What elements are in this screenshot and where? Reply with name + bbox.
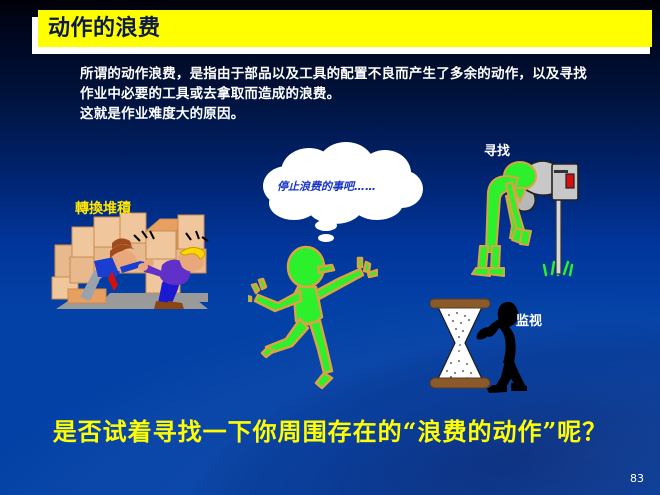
stacking-boxes-svg [50,205,210,310]
label-stacking: 轉換堆積 [75,198,131,218]
mailbox-search-svg [470,152,585,277]
illustration-stacking-boxes [50,205,210,310]
body-line-1: 所谓的动作浪费，是指由于部品以及工具的配置不良而产生了多余的动作，以及寻找 [80,64,640,84]
illustration-dancing-figure [248,245,378,390]
slide-canvas: 动作的浪费 所谓的动作浪费，是指由于部品以及工具的配置不良而产生了多余的动作，以… [0,0,660,495]
page-number: 83 [630,472,644,485]
page-title: 动作的浪费 [48,12,608,45]
thought-cloud: 停止浪费的事吧…… [255,142,430,247]
body-paragraph: 所谓的动作浪费，是指由于部品以及工具的配置不良而产生了多余的动作，以及寻找 作业… [80,64,640,124]
closing-question: 是否试着寻找一下你周围存在的“浪费的动作”呢？ [0,412,660,447]
thought-text: 停止浪费的事吧…… [277,178,417,194]
body-line-3: 这就是作业难度大的原因。 [80,104,640,124]
illustration-hourglass-watcher [425,293,540,393]
thought-tail-large [315,220,337,231]
hourglass-watcher-svg [425,293,540,393]
illustration-mailbox-search [470,152,585,277]
label-watching: 监视 [516,310,542,329]
thought-tail-small [318,234,334,242]
dancing-figure-svg [248,245,378,390]
background-swoosh-dark [161,277,660,495]
body-line-2: 作业中必要的工具或去拿取而造成的浪费。 [80,84,640,104]
label-searching: 寻找 [484,140,510,159]
